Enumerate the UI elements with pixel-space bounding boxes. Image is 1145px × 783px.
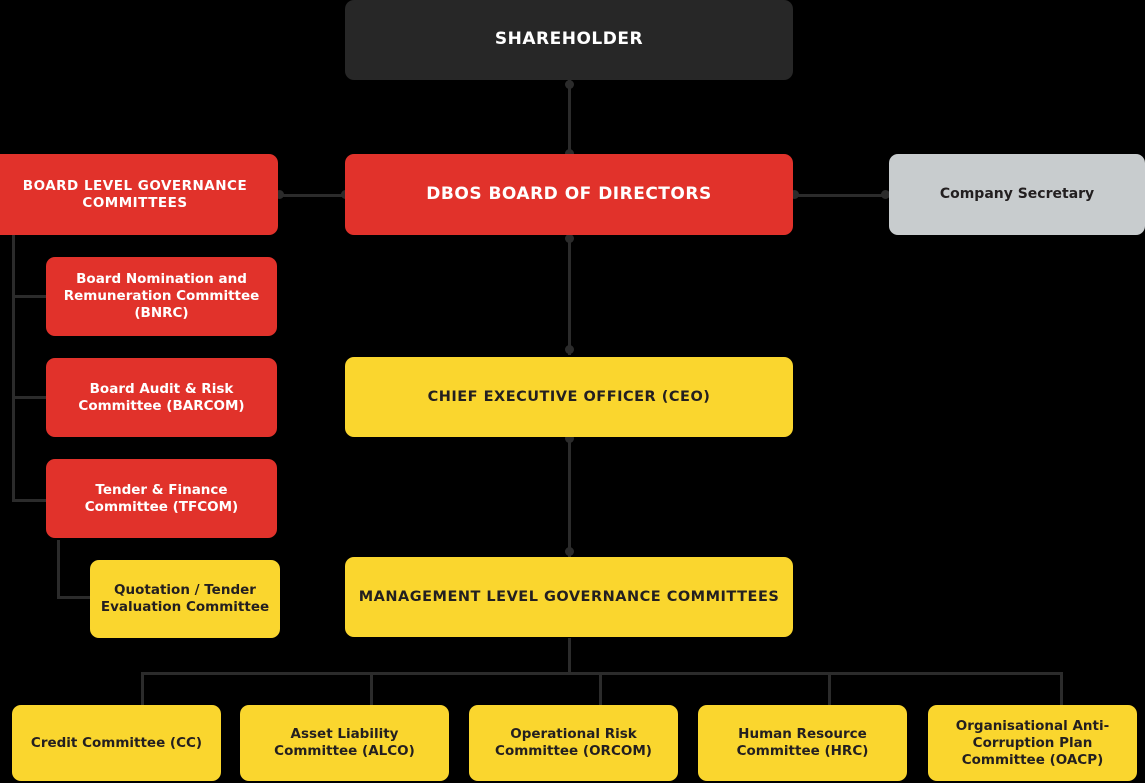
node-barcom-label: Board Audit & Risk Committee (BARCOM) bbox=[54, 381, 269, 415]
node-dbos-board-of-directors[interactable]: DBOS BOARD OF DIRECTORS bbox=[345, 154, 793, 235]
connector-bus-to-alco bbox=[370, 672, 373, 705]
node-credit-committee-label: Credit Committee (CC) bbox=[20, 735, 213, 752]
node-bnrc[interactable]: Board Nomination and Remuneration Commit… bbox=[46, 257, 277, 336]
node-operational-risk-committee-label: Operational Risk Committee (ORCOM) bbox=[477, 726, 670, 760]
connector-shareholder-to-board bbox=[568, 80, 571, 154]
node-oacp-committee[interactable]: Organisational Anti-Corruption Plan Comm… bbox=[928, 705, 1137, 781]
connector-bus-to-oacp bbox=[1060, 672, 1063, 705]
connector-bus-to-hrc bbox=[828, 672, 831, 705]
connector-committee-spine bbox=[12, 234, 15, 502]
node-barcom[interactable]: Board Audit & Risk Committee (BARCOM) bbox=[46, 358, 277, 437]
node-shareholder-label: SHAREHOLDER bbox=[353, 29, 785, 50]
connector-dot bbox=[565, 80, 574, 89]
connector-bus-to-cc bbox=[141, 672, 144, 705]
node-tfcom[interactable]: Tender & Finance Committee (TFCOM) bbox=[46, 459, 277, 538]
node-oacp-committee-label: Organisational Anti-Corruption Plan Comm… bbox=[936, 718, 1129, 769]
org-chart-canvas: SHAREHOLDER BOARD LEVEL GOVERNANCE COMMI… bbox=[0, 0, 1145, 783]
connector-dot bbox=[565, 547, 574, 556]
node-dbos-board-of-directors-label: DBOS BOARD OF DIRECTORS bbox=[353, 184, 785, 205]
node-asset-liability-committee[interactable]: Asset Liability Committee (ALCO) bbox=[240, 705, 449, 781]
node-human-resource-committee-label: Human Resource Committee (HRC) bbox=[706, 726, 899, 760]
node-company-secretary[interactable]: Company Secretary bbox=[889, 154, 1145, 235]
node-quotation-tender-evaluation-committee[interactable]: Quotation / Tender Evaluation Committee bbox=[90, 560, 280, 638]
connector-board-to-secretary bbox=[792, 194, 889, 197]
connector-dot bbox=[565, 234, 574, 243]
connector-spine-to-bnrc bbox=[12, 295, 46, 298]
connector-tfcom-to-quotation bbox=[57, 596, 91, 599]
connector-tfcom-drop bbox=[57, 540, 60, 599]
node-tfcom-label: Tender & Finance Committee (TFCOM) bbox=[54, 482, 269, 516]
node-chief-executive-officer-label: CHIEF EXECUTIVE OFFICER (CEO) bbox=[353, 388, 785, 406]
node-board-level-governance-committees-label: BOARD LEVEL GOVERNANCE COMMITTEES bbox=[0, 178, 270, 212]
node-shareholder[interactable]: SHAREHOLDER bbox=[345, 0, 793, 80]
connector-management-bus bbox=[141, 672, 1063, 675]
connector-board-to-board-committees bbox=[278, 194, 347, 197]
node-credit-committee[interactable]: Credit Committee (CC) bbox=[12, 705, 221, 781]
node-asset-liability-committee-label: Asset Liability Committee (ALCO) bbox=[248, 726, 441, 760]
node-management-level-governance-committees-label: MANAGEMENT LEVEL GOVERNANCE COMMITTEES bbox=[353, 588, 785, 606]
node-management-level-governance-committees[interactable]: MANAGEMENT LEVEL GOVERNANCE COMMITTEES bbox=[345, 557, 793, 637]
node-company-secretary-label: Company Secretary bbox=[897, 186, 1137, 204]
connector-spine-to-tfcom bbox=[12, 499, 46, 502]
connector-management-drop bbox=[568, 638, 571, 675]
node-chief-executive-officer[interactable]: CHIEF EXECUTIVE OFFICER (CEO) bbox=[345, 357, 793, 437]
connector-bus-to-orcom bbox=[599, 672, 602, 705]
node-operational-risk-committee[interactable]: Operational Risk Committee (ORCOM) bbox=[469, 705, 678, 781]
node-bnrc-label: Board Nomination and Remuneration Commit… bbox=[54, 271, 269, 322]
connector-spine-to-barcom bbox=[12, 396, 46, 399]
node-board-level-governance-committees[interactable]: BOARD LEVEL GOVERNANCE COMMITTEES bbox=[0, 154, 278, 235]
connector-dot bbox=[565, 345, 574, 354]
connector-board-to-ceo bbox=[568, 235, 571, 355]
connector-ceo-to-management bbox=[568, 437, 571, 557]
node-quotation-tender-evaluation-committee-label: Quotation / Tender Evaluation Committee bbox=[98, 582, 272, 616]
node-human-resource-committee[interactable]: Human Resource Committee (HRC) bbox=[698, 705, 907, 781]
